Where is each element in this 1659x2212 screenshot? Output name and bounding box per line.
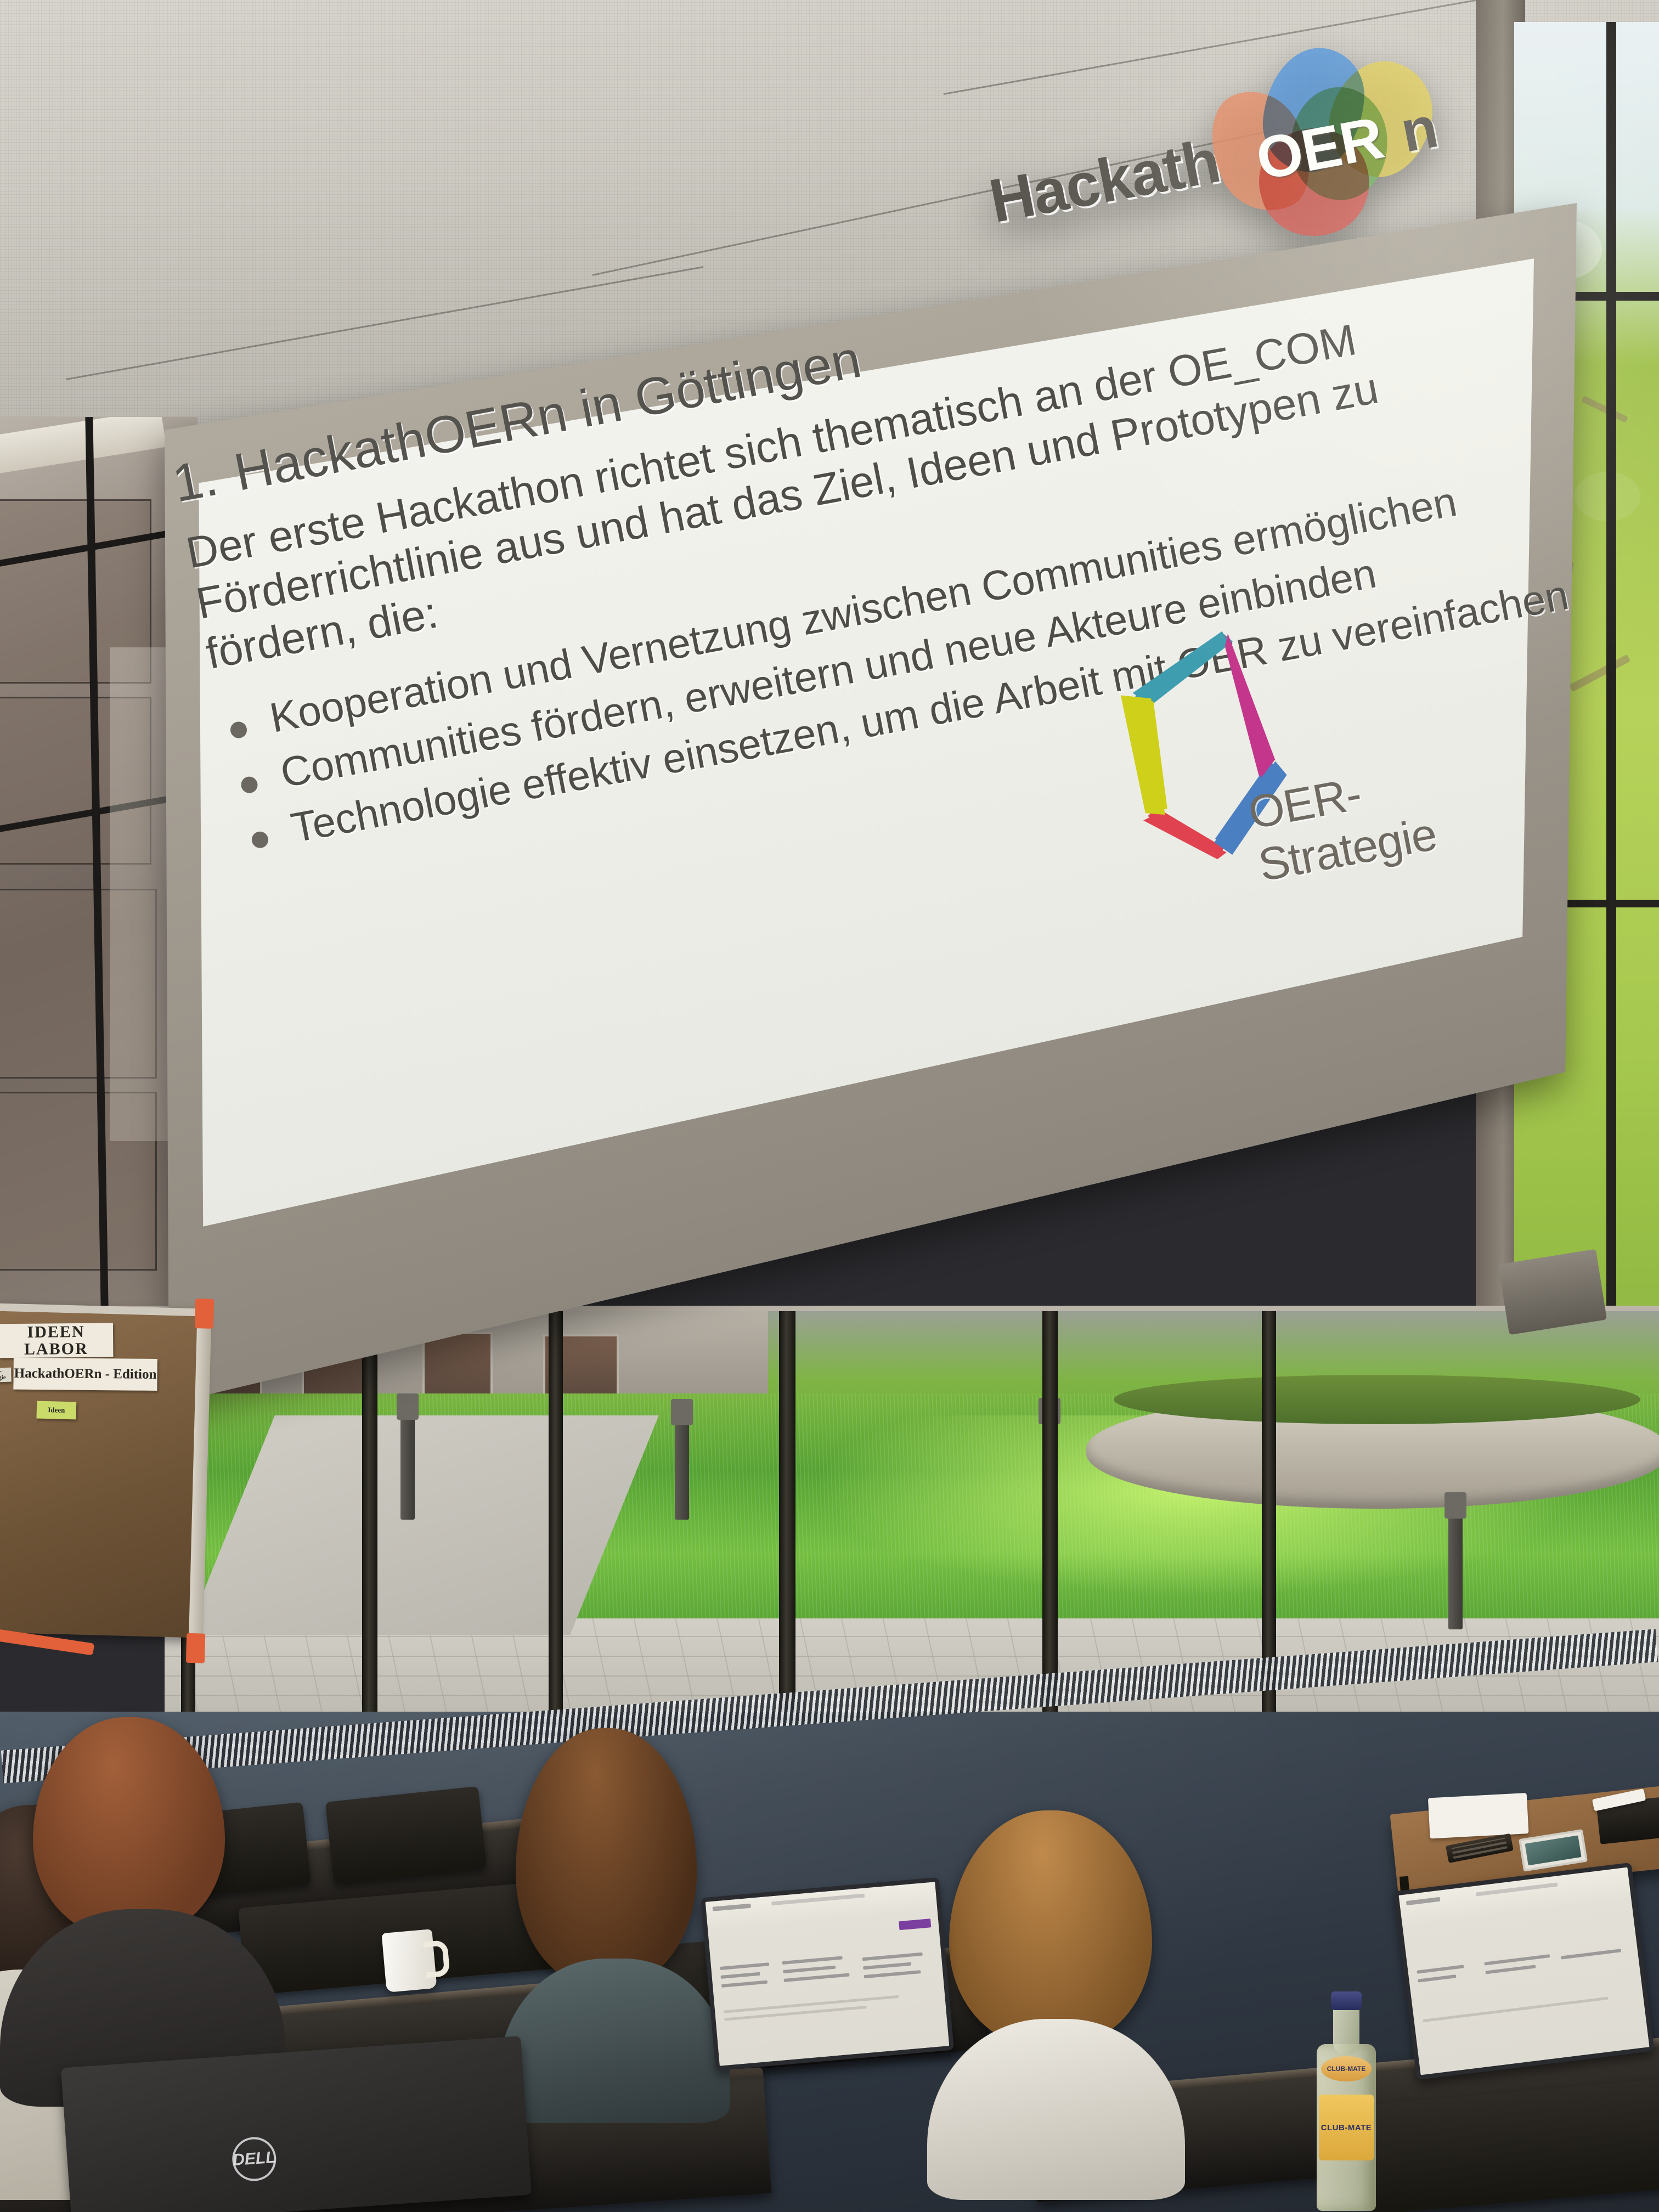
- sticky-note: Ideen: [36, 1401, 76, 1420]
- tablet-device[interactable]: [1519, 1829, 1588, 1872]
- small-card: OER-Strategie: [0, 1368, 12, 1383]
- slide-content: Hackath OER n 1.HackathOERn in Göttingen…: [168, 219, 1576, 1091]
- bottle-label: CLUB-MATE: [1319, 2095, 1374, 2160]
- lecture-hall-photo: Hackath OER n 1.HackathOERn in Göttingen…: [0, 0, 1659, 2212]
- bottle-neck-label: CLUB-MATE: [1321, 2056, 1372, 2081]
- seat-back: [325, 1786, 487, 1884]
- screen-roller-end: [1498, 1249, 1607, 1335]
- laptop-open[interactable]: [1394, 1863, 1655, 2080]
- paper-sheet: [1428, 1793, 1529, 1838]
- logo-word: Hackath: [984, 125, 1224, 236]
- dell-logo: DELL: [231, 2136, 278, 2182]
- sign-ideen-labor: IDEEN LABOR: [0, 1323, 113, 1358]
- sign-hackathoern-edition: HackathOERn - Edition: [13, 1358, 157, 1391]
- laptop-open[interactable]: [701, 1877, 954, 2071]
- oer-strategie-logo: OER-Strategie: [1093, 571, 1530, 890]
- bottle-cap: [1331, 1991, 1362, 2010]
- projection-screen: Hackath OER n 1.HackathOERn in Göttingen…: [165, 203, 1591, 1410]
- club-mate-bottle: CLUB-MATE CLUB-MATE: [1317, 1991, 1376, 2211]
- remote-control: [1446, 1833, 1514, 1863]
- slide-title-number: 1.: [168, 447, 223, 514]
- coffee-mug: [381, 1929, 437, 1993]
- pinboard: IDEEN LABOR HackathOERn - Edition Ideen …: [0, 1303, 202, 1638]
